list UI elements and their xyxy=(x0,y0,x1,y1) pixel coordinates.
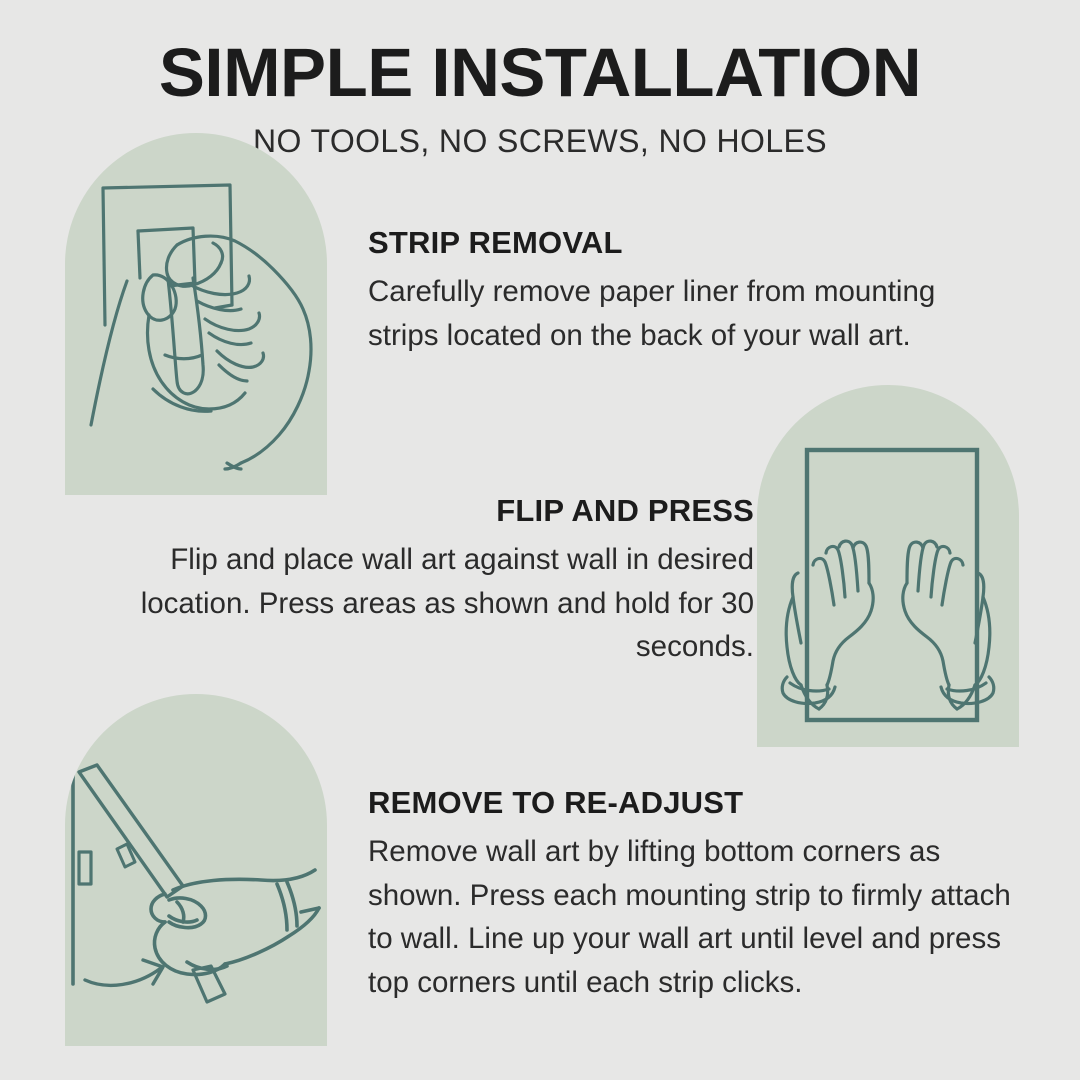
illustration-panel-strip-removal xyxy=(65,133,327,495)
step-3-heading: REMOVE TO RE-ADJUST xyxy=(368,786,1018,820)
two-hands-pressing-icon xyxy=(757,385,1019,747)
step-1-heading: STRIP REMOVAL xyxy=(368,226,1008,260)
step-1-body: Carefully remove paper liner from mounti… xyxy=(368,270,1008,357)
step-2-body: Flip and place wall art against wall in … xyxy=(96,538,754,669)
hand-peeling-liner-icon xyxy=(65,133,327,495)
page-title: SIMPLE INSTALLATION xyxy=(0,38,1080,107)
hand-lifting-frame-icon xyxy=(65,694,327,1046)
illustration-panel-flip-and-press xyxy=(757,385,1019,747)
step-2-text-block: FLIP AND PRESS Flip and place wall art a… xyxy=(96,494,754,669)
step-3-text-block: REMOVE TO RE-ADJUST Remove wall art by l… xyxy=(368,786,1018,1005)
illustration-panel-remove-to-readjust xyxy=(65,694,327,1046)
step-2-heading: FLIP AND PRESS xyxy=(96,494,754,528)
infographic-page: SIMPLE INSTALLATION NO TOOLS, NO SCREWS,… xyxy=(0,0,1080,1080)
step-3-body: Remove wall art by lifting bottom corner… xyxy=(368,830,1018,1005)
step-1-text-block: STRIP REMOVAL Carefully remove paper lin… xyxy=(368,226,1008,357)
